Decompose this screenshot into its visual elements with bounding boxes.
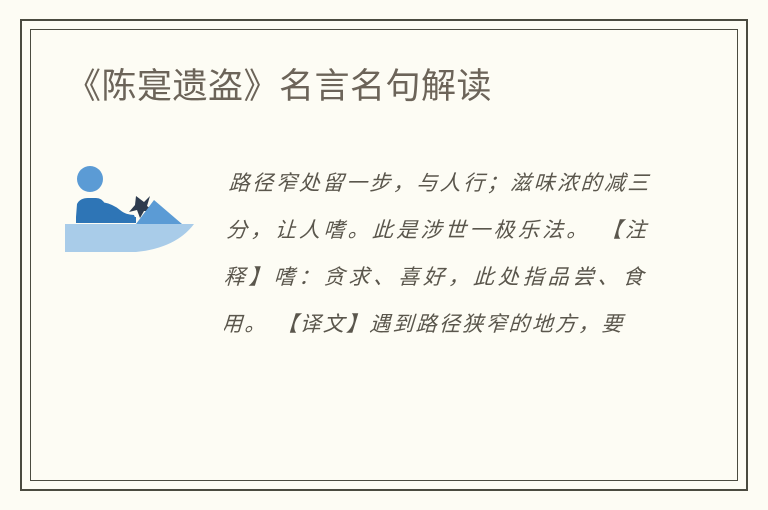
person-head-shape <box>77 166 103 192</box>
page-title: 《陈寔遗盗》名言名句解读 <box>66 64 706 110</box>
quote-text: 路径窄处留一步，与人行；滋味浓的减三分，让人嗜。此是涉世一极乐法。 【注释】嗜：… <box>224 160 652 348</box>
person-in-boat-illustration <box>58 160 208 272</box>
quote-text-container: 路径窄处留一步，与人行；滋味浓的减三分，让人嗜。此是涉世一极乐法。 【注释】嗜：… <box>224 160 652 412</box>
boat-hull-shape <box>65 224 194 252</box>
quote-card: 《陈寔遗盗》名言名句解读 路径窄处留一步，与人行；滋味浓的减三分，让人嗜。此是涉… <box>0 0 768 510</box>
